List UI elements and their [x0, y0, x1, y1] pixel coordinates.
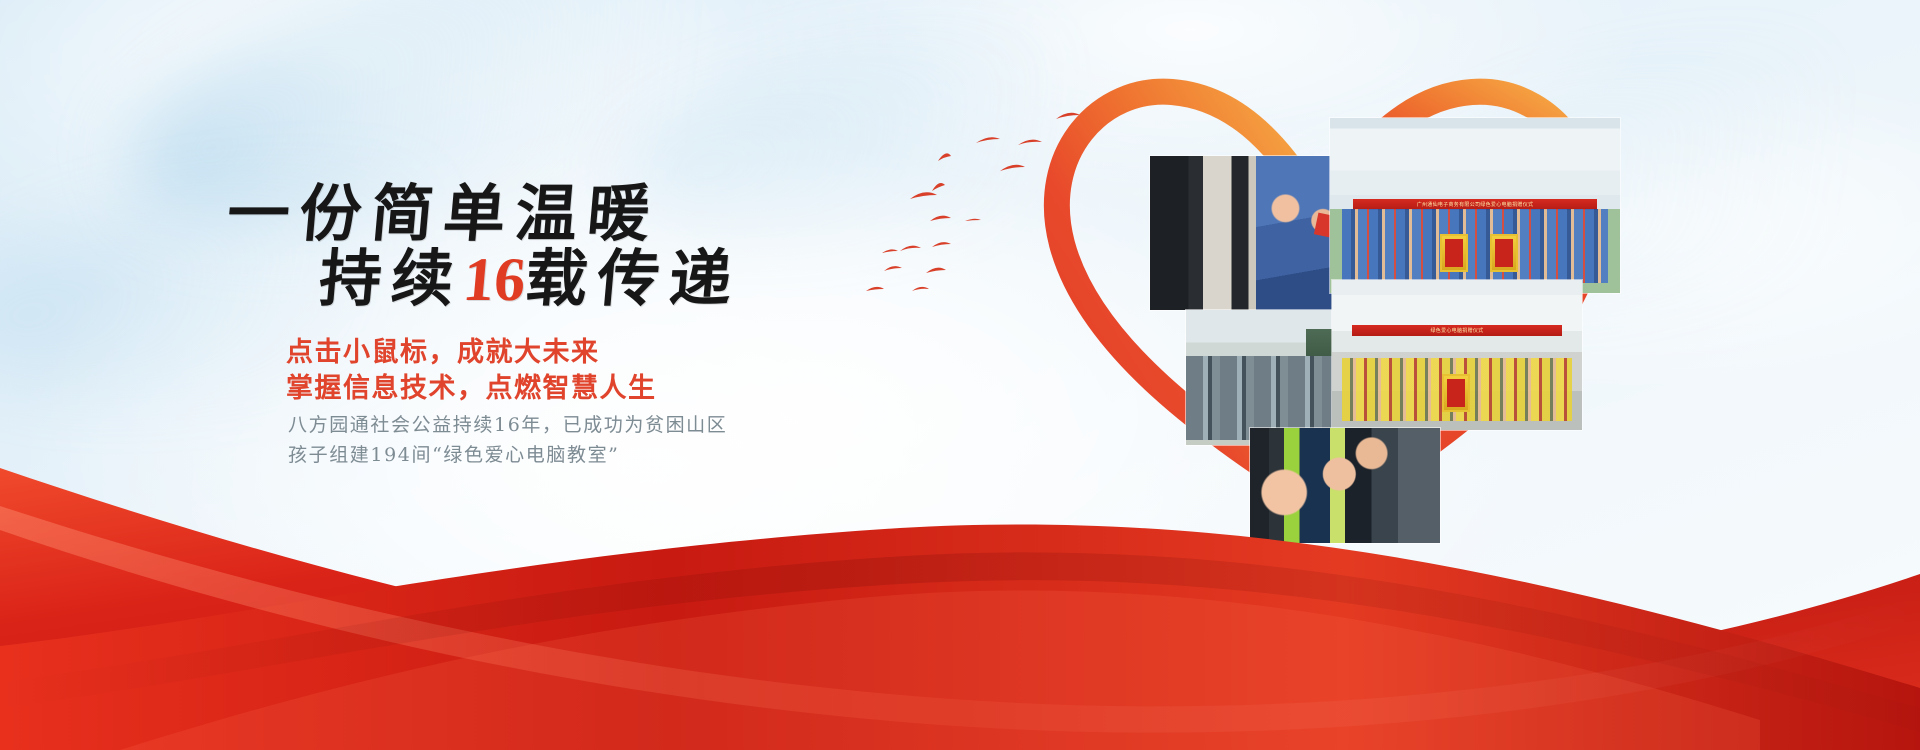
charity-banner: 广州通仙电子商务有限公司绿色爱心电脑捐赠仪式 绿色爱心电脑捐赠仪式	[0, 0, 1920, 750]
subheading-line-1: 点击小鼠标，成就大未来	[286, 330, 600, 369]
photo-donation-ceremony-1: 广州通仙电子商务有限公司绿色爱心电脑捐赠仪式	[1330, 118, 1620, 293]
red-silk-waves	[0, 420, 1920, 750]
photo-donation-ceremony-2: 绿色爱心电脑捐赠仪式	[1332, 280, 1582, 430]
ceremony-banner-text: 绿色爱心电脑捐赠仪式	[1352, 325, 1562, 336]
headline-years-number: 16	[460, 245, 528, 316]
headline-line-2-after: 载传递	[522, 242, 744, 315]
headline-line-2-before: 持续	[316, 242, 466, 315]
headline-line-2: 持续16载传递	[316, 228, 746, 318]
subheading-line-2: 掌握信息技术，点燃智慧人生	[286, 366, 657, 405]
ceremony-banner-text: 广州通仙电子商务有限公司绿色爱心电脑捐赠仪式	[1353, 199, 1597, 210]
